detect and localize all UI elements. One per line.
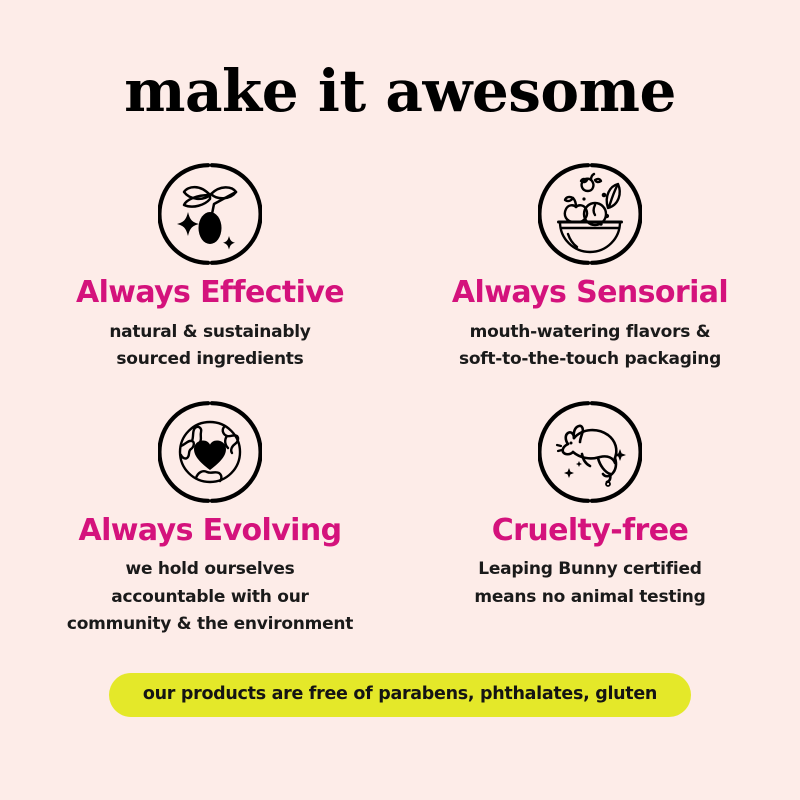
feature-card-cruelty-free: Cruelty-free Leaping Bunny certified mea… <box>400 400 780 639</box>
feature-card-always-effective: Always Effective natural & sustainably s… <box>20 162 400 374</box>
feature-card-always-evolving: Always Evolving we hold ourselves accoun… <box>20 400 400 639</box>
feature-grid: Always Effective natural & sustainably s… <box>20 162 780 639</box>
free-from-banner: our products are free of parabens, phtha… <box>109 673 691 717</box>
feature-title: Always Sensorial <box>452 276 728 310</box>
page-title: make it awesome <box>124 62 676 120</box>
feature-title: Always Effective <box>76 276 344 310</box>
feature-description-line: means no animal testing <box>474 584 705 612</box>
feature-description-line: accountable with our <box>67 584 353 612</box>
feature-description: Leaping Bunny certified means no animal … <box>474 556 705 611</box>
feature-title: Cruelty-free <box>492 514 689 548</box>
feature-description-line: mouth-watering flavors & <box>459 319 721 347</box>
footer-banner-row: our products are free of parabens, phtha… <box>0 673 800 717</box>
feature-description-line: soft-to-the-touch packaging <box>459 346 721 374</box>
promo-poster: make it awesome <box>0 0 800 800</box>
olive-branch-sparkle-icon <box>158 162 262 266</box>
globe-heart-icon <box>158 400 262 504</box>
feature-description: mouth-watering flavors & soft-to-the-tou… <box>459 319 721 374</box>
feature-description-line: community & the environment <box>67 611 353 639</box>
feature-description-line: natural & sustainably <box>109 319 310 347</box>
feature-description-line: sourced ingredients <box>109 346 310 374</box>
fruit-bowl-icon <box>538 162 642 266</box>
leaping-bunny-icon <box>538 400 642 504</box>
feature-description-line: Leaping Bunny certified <box>474 556 705 584</box>
feature-description: we hold ourselves accountable with our c… <box>67 556 353 639</box>
feature-description-line: we hold ourselves <box>67 556 353 584</box>
feature-card-always-sensorial: Always Sensorial mouth-watering flavors … <box>400 162 780 374</box>
feature-description: natural & sustainably sourced ingredient… <box>109 319 310 374</box>
feature-title: Always Evolving <box>78 514 341 548</box>
